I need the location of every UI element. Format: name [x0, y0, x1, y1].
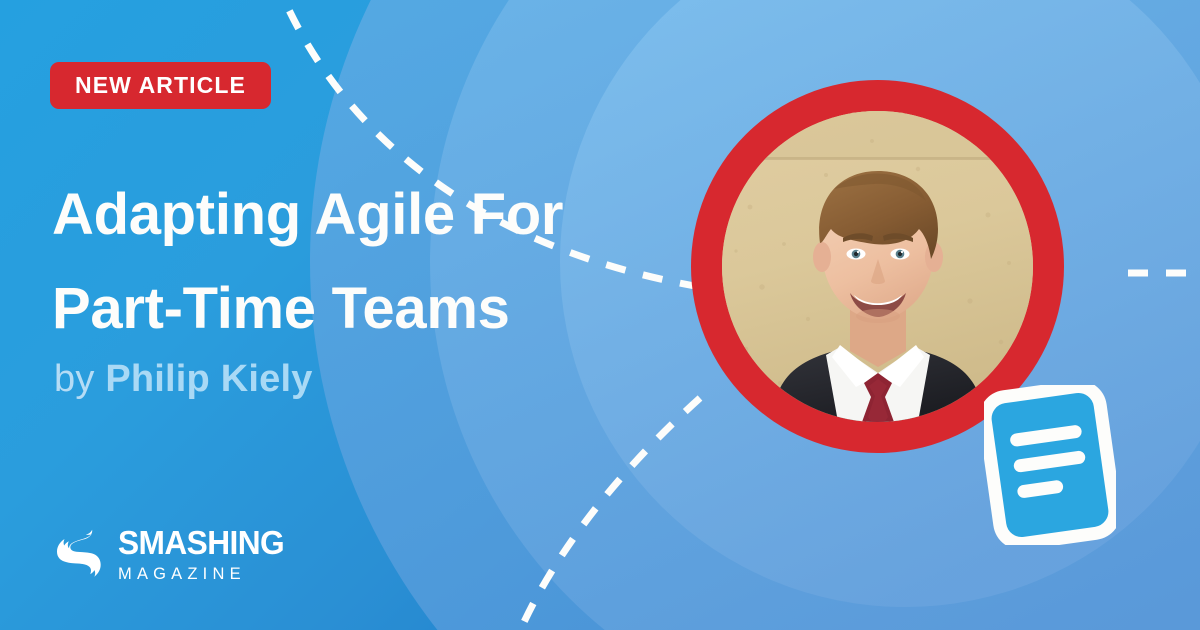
avatar-photo: [722, 111, 1033, 422]
new-article-badge: NEW ARTICLE: [50, 62, 271, 109]
dashed-arc-bottom-left: [508, 398, 700, 630]
headline-line-1: Adapting Agile For: [52, 182, 563, 247]
article-share-card: NEW ARTICLE Adapting Agile For Part-Time…: [0, 0, 1200, 630]
logo-brand-name: SMASHING: [118, 526, 284, 559]
author-name: Philip Kiely: [105, 358, 312, 400]
byline: by Philip Kiely: [54, 358, 313, 401]
page-title: Adapting Agile For Part-Time Teams: [52, 168, 692, 356]
byline-prefix: by: [54, 358, 95, 400]
smashing-magazine-logo: SMASHING MAGAZINE: [57, 526, 291, 583]
logo-brand-subtitle: MAGAZINE: [118, 566, 291, 583]
smashing-s-mark: [57, 526, 105, 582]
logo-wordmark: SMASHING MAGAZINE: [118, 526, 291, 583]
article-document-icon: [984, 385, 1116, 545]
headline-line-2: Part-Time Teams: [52, 276, 510, 341]
